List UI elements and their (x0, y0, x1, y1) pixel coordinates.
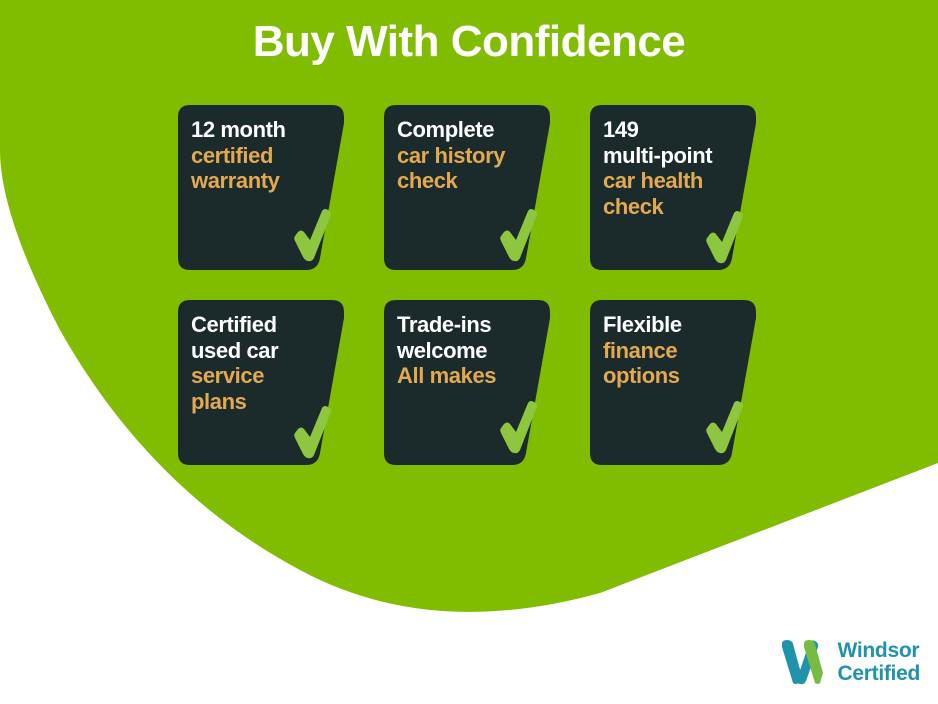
feature-card-car-health-check[interactable]: 149 multi-point car health check (590, 105, 756, 270)
card-line-white-0: Trade-ins (397, 312, 537, 338)
card-line-white-0: Certified (191, 312, 331, 338)
card-line-white-0: 149 (603, 117, 743, 143)
card-line-accent-0: car health (603, 168, 743, 194)
card-line-accent-1: plans (191, 389, 331, 415)
card-text-block: Trade-ins welcome All makes (397, 312, 537, 389)
card-line-white-0: Complete (397, 117, 537, 143)
feature-card-car-history-check[interactable]: Complete car history check (384, 105, 550, 270)
feature-card-grid: 12 month certified warranty Complete car… (178, 105, 758, 465)
windsor-w-icon (778, 639, 830, 685)
card-text-block: Complete car history check (397, 117, 537, 194)
card-line-accent-0: All makes (397, 363, 537, 389)
card-line-white-1: multi-point (603, 143, 743, 169)
poster-canvas: Buy With Confidence 12 month certified w… (0, 0, 938, 704)
card-line-accent-1: options (603, 363, 743, 389)
card-line-accent-0: certified (191, 143, 331, 169)
card-line-accent-1: warranty (191, 168, 331, 194)
feature-card-service-plans[interactable]: Certified used car service plans (178, 300, 344, 465)
logo-line-windsor: Windsor (838, 639, 920, 663)
card-text-block: 149 multi-point car health check (603, 117, 743, 219)
card-line-white-0: Flexible (603, 312, 743, 338)
card-line-accent-1: check (397, 168, 537, 194)
card-line-accent-1: check (603, 194, 743, 220)
card-line-white-1: welcome (397, 338, 537, 364)
card-line-white-1: used car (191, 338, 331, 364)
feature-card-trade-ins[interactable]: Trade-ins welcome All makes (384, 300, 550, 465)
card-line-white-0: 12 month (191, 117, 331, 143)
card-text-block: 12 month certified warranty (191, 117, 331, 194)
card-text-block: Certified used car service plans (191, 312, 331, 414)
logo-wordmark: Windsor Certified (838, 639, 920, 686)
feature-card-flexible-finance[interactable]: Flexible finance options (590, 300, 756, 465)
card-line-accent-0: service (191, 363, 331, 389)
windsor-certified-logo[interactable]: Windsor Certified (778, 639, 920, 686)
page-title: Buy With Confidence (0, 18, 938, 66)
logo-line-certified: Certified (838, 662, 920, 686)
card-line-accent-0: car history (397, 143, 537, 169)
feature-card-certified-warranty[interactable]: 12 month certified warranty (178, 105, 344, 270)
card-line-accent-0: finance (603, 338, 743, 364)
card-text-block: Flexible finance options (603, 312, 743, 389)
